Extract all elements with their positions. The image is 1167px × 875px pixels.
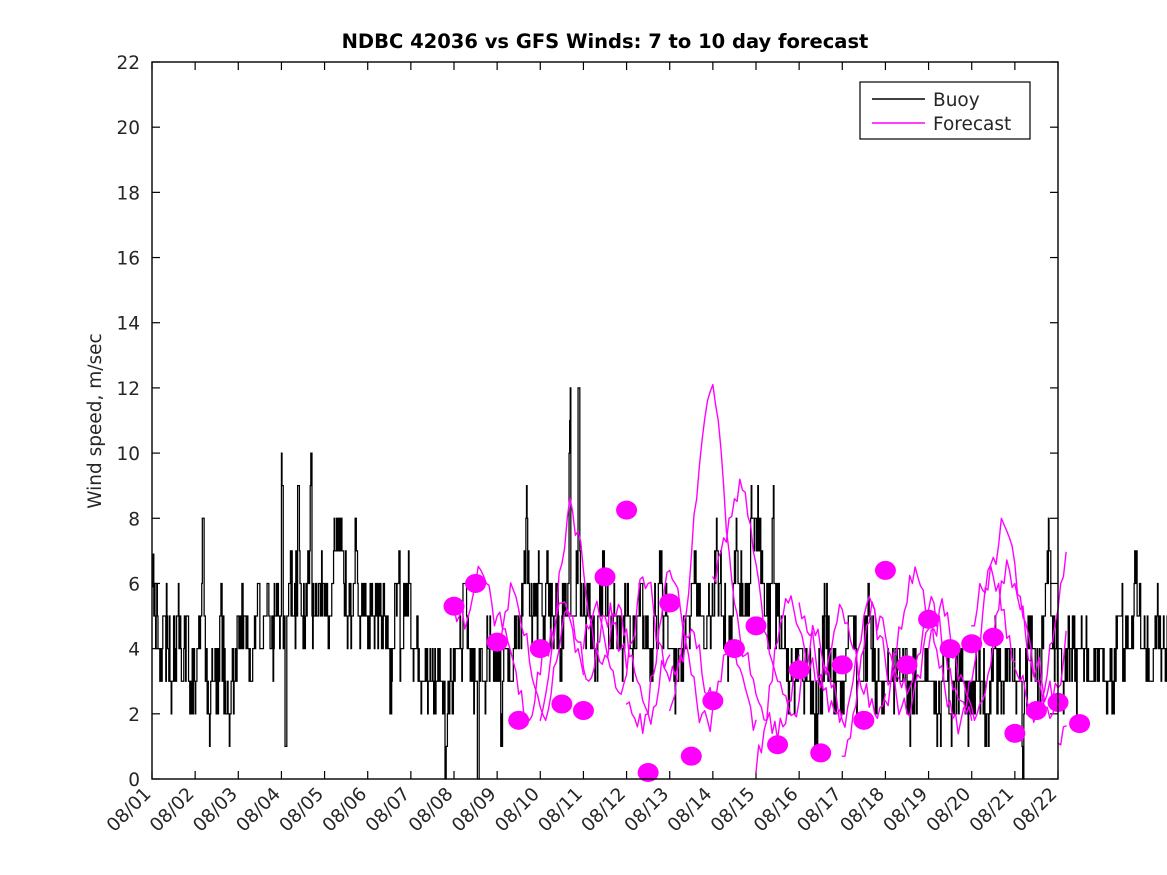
forecast-marker-dot xyxy=(1026,701,1047,720)
chart-title: NDBC 42036 vs GFS Winds: 7 to 10 day for… xyxy=(342,30,869,53)
y-tick-label: 22 xyxy=(116,53,140,74)
chart-figure: NDBC 42036 vs GFS Winds: 7 to 10 day for… xyxy=(0,0,1167,875)
forecast-marker-dot xyxy=(595,567,616,586)
forecast-marker-dot xyxy=(530,639,551,658)
forecast-marker-dot xyxy=(444,597,465,616)
forecast-marker-dot xyxy=(810,743,831,762)
forecast-marker-dot xyxy=(897,655,918,674)
y-tick-label: 2 xyxy=(128,705,140,726)
forecast-marker-dot xyxy=(702,691,723,710)
y-tick-label: 8 xyxy=(128,509,140,530)
forecast-marker-dot xyxy=(724,639,745,658)
forecast-marker-dot xyxy=(983,628,1004,647)
chart-legend[interactable]: Buoy Forecast xyxy=(860,82,1030,139)
y-tick-label: 20 xyxy=(116,118,140,139)
wind-speed-chart: NDBC 42036 vs GFS Winds: 7 to 10 day for… xyxy=(0,0,1167,875)
y-tick-label: 18 xyxy=(116,183,140,204)
forecast-marker-dot xyxy=(767,735,788,754)
y-tick-label: 12 xyxy=(116,379,140,400)
forecast-marker-dot xyxy=(508,711,529,730)
forecast-marker-dot xyxy=(875,561,896,580)
forecast-marker-dot xyxy=(465,574,486,593)
y-tick-label: 6 xyxy=(128,574,140,595)
legend-item-forecast: Forecast xyxy=(933,114,1011,135)
y-axis-label: Wind speed, m/sec xyxy=(85,333,106,508)
forecast-marker-dot xyxy=(940,639,961,658)
y-tick-label: 10 xyxy=(116,444,140,465)
y-tick-label: 4 xyxy=(128,640,140,661)
forecast-marker-dot xyxy=(832,655,853,674)
forecast-marker-dot xyxy=(616,501,637,520)
forecast-marker-dot xyxy=(789,660,810,679)
y-tick-label: 14 xyxy=(116,314,140,335)
forecast-marker-dot xyxy=(961,634,982,653)
y-tick-label: 16 xyxy=(116,249,140,270)
forecast-marker-dot xyxy=(1004,724,1025,743)
forecast-marker-dot xyxy=(918,610,939,629)
forecast-marker-dot xyxy=(573,701,594,720)
forecast-marker-dot xyxy=(487,633,508,652)
forecast-marker-dot xyxy=(1069,714,1090,733)
forecast-marker-dot xyxy=(746,616,767,635)
forecast-marker-dot xyxy=(551,695,572,714)
forecast-marker-dot xyxy=(659,594,680,613)
forecast-marker-dot xyxy=(681,747,702,766)
forecast-marker-dot xyxy=(853,711,874,730)
legend-item-buoy: Buoy xyxy=(933,90,980,111)
